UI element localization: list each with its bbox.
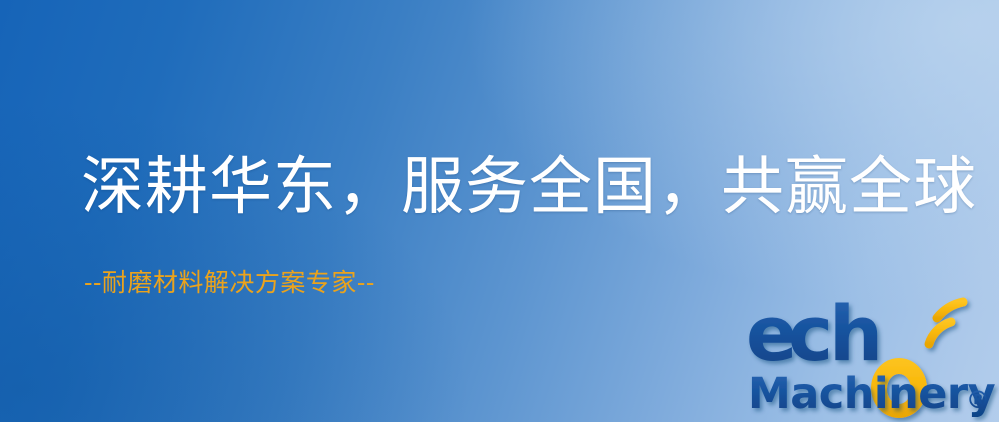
logo-echo-letters: e c h [746,296,883,378]
banner-content: 深耕华东，服务全国，共赢全球 --耐磨材料解决方案专家-- [0,0,999,422]
logo-echo-wave-arcs [929,302,963,344]
logo-machinery-wordmark: Machinery ® [748,369,996,419]
logo-letter-h: h [829,296,883,378]
logo-svg: e c h Machinery ® [744,296,999,422]
logo-machinery-text: Machinery [748,369,996,419]
logo-registered-mark: ® [966,386,990,414]
banner-subtitle: --耐磨材料解决方案专家-- [84,268,375,298]
banner-headline: 深耕华东，服务全国，共赢全球 [81,154,977,220]
echo-machinery-logo: e c h Machinery ® [744,296,999,422]
logo-letter-c: c [788,296,833,378]
promotional-banner: 深耕华东，服务全国，共赢全球 --耐磨材料解决方案专家-- [0,0,999,422]
